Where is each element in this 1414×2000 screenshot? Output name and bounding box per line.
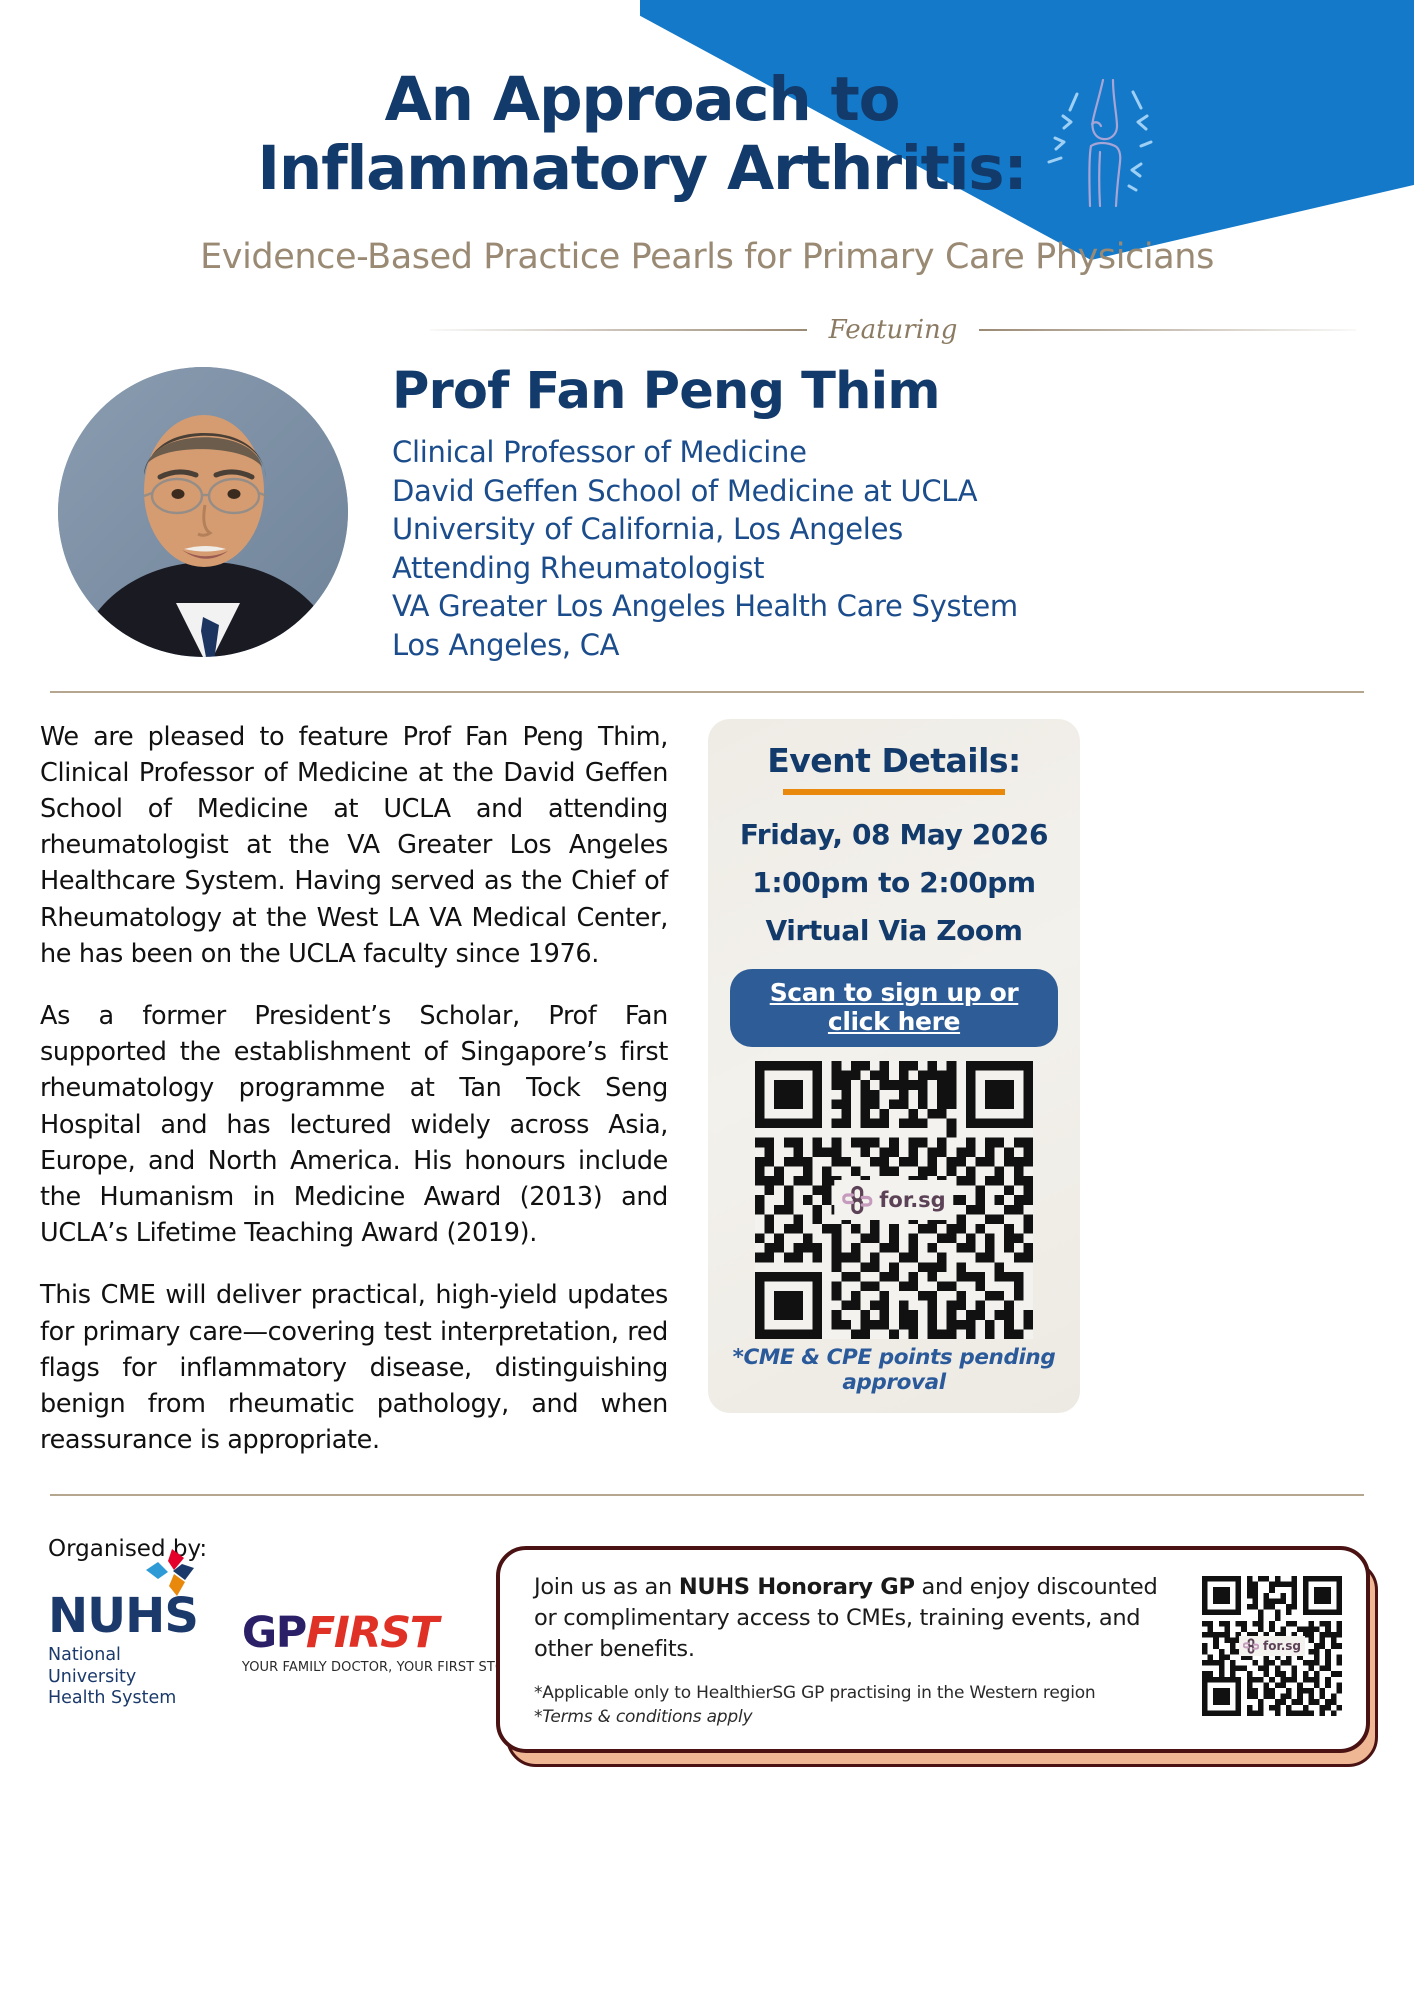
forsg-logo-overlay: for.sg (834, 1180, 953, 1220)
honorary-gp-text: Join us as an NUHS Honorary GP and enjoy… (534, 1572, 1186, 1729)
gpfirst-logo: GPFIRST YOUR FAMILY DOCTOR, YOUR FIRST S… (242, 1592, 513, 1675)
credential-line: Los Angeles, CA (392, 626, 1018, 665)
honorary-gp-callout: Join us as an NUHS Honorary GP and enjoy… (496, 1546, 1370, 1753)
credential-line: David Geffen School of Medicine at UCLA (392, 472, 1018, 511)
description-paragraph: As a former President’s Scholar, Prof Fa… (40, 998, 668, 1251)
page-footer: Organised by: NUHS National University H… (0, 1496, 1414, 1753)
page-subtitle: Evidence-Based Practice Pearls for Prima… (0, 237, 1414, 277)
forsg-label: for.sg (879, 1188, 945, 1212)
gpfirst-wordmark: GPFIRST (242, 1612, 513, 1655)
page-title: An Approach to Inflammatory Arthritis: (257, 66, 1026, 203)
gpfirst-tagline: YOUR FAMILY DOCTOR, YOUR FIRST STOP (242, 1660, 513, 1675)
nuhs-wordmark: NUHS (48, 1592, 198, 1640)
organised-by-label: Organised by: (48, 1536, 468, 1562)
chain-link-icon (842, 1185, 872, 1215)
cme-pending-note: *CME & CPE points pending approval (724, 1345, 1064, 1395)
chain-link-icon (1243, 1638, 1259, 1654)
event-details-title: Event Details: (724, 741, 1064, 780)
knee-joint-icon (1037, 76, 1157, 211)
signup-button[interactable]: Scan to sign up or click here (730, 969, 1058, 1047)
fineprint-line-2: *Terms & conditions apply (534, 1706, 1186, 1729)
nuhs-subtitle: National University Health System (48, 1645, 198, 1709)
featuring-line-right (979, 329, 1356, 331)
nuhs-pinwheel-icon (144, 1548, 196, 1598)
event-title-underline (783, 789, 1005, 795)
credential-line: University of California, Los Angeles (392, 510, 1018, 549)
nuhs-subtitle-line-1: National University (48, 1645, 198, 1688)
nuhs-subtitle-line-2: Health System (48, 1688, 198, 1709)
featuring-divider: Featuring (430, 315, 1356, 345)
event-date: Friday, 08 May 2026 (724, 811, 1064, 859)
nuhs-logo: NUHS National University Health System (48, 1592, 198, 1709)
gpfirst-gp-text: GP (242, 1608, 306, 1658)
gpfirst-first-text: FIRST (306, 1608, 438, 1658)
event-details-card: Event Details: Friday, 08 May 2026 1:00p… (708, 719, 1080, 1413)
fineprint-line-1: *Applicable only to HealthierSG GP pract… (534, 1682, 1186, 1705)
speaker-credentials: Clinical Professor of Medicine David Gef… (392, 433, 1018, 664)
description-column: We are pleased to feature Prof Fan Peng … (40, 719, 668, 1459)
title-row: An Approach to Inflammatory Arthritis: (0, 58, 1414, 211)
event-time: 1:00pm to 2:00pm (724, 859, 1064, 907)
event-mode: Virtual Via Zoom (724, 907, 1064, 955)
speaker-avatar (58, 367, 348, 657)
signup-qr-code[interactable]: for.sg (755, 1061, 1033, 1339)
speaker-name: Prof Fan Peng Thim (392, 363, 1018, 421)
title-line-2: Inflammatory Arthritis: (257, 135, 1026, 203)
honorary-gp-fineprint: *Applicable only to HealthierSG GP pract… (534, 1682, 1186, 1729)
description-paragraph: This CME will deliver practical, high-yi… (40, 1277, 668, 1458)
description-paragraph: We are pleased to feature Prof Fan Peng … (40, 719, 668, 972)
honorary-text-bold: NUHS Honorary GP (679, 1574, 915, 1600)
honorary-gp-message: Join us as an NUHS Honorary GP and enjoy… (534, 1572, 1186, 1664)
honorary-gp-qr-code[interactable]: for.sg (1202, 1576, 1342, 1716)
title-line-1: An Approach to (257, 66, 1026, 134)
featuring-label: Featuring (829, 315, 958, 345)
main-content: We are pleased to feature Prof Fan Peng … (0, 693, 1414, 1459)
honorary-text-before: Join us as an (534, 1574, 679, 1600)
forsg-logo-overlay-small: for.sg (1239, 1636, 1305, 1656)
speaker-block: Prof Fan Peng Thim Clinical Professor of… (0, 361, 1414, 665)
featuring-line-left (430, 329, 807, 331)
credential-line: VA Greater Los Angeles Health Care Syste… (392, 587, 1018, 626)
page-header: An Approach to Inflammatory Arthritis: (0, 0, 1414, 277)
forsg-label-small: for.sg (1263, 1639, 1301, 1653)
organiser-logos: NUHS National University Health System G… (48, 1592, 468, 1709)
speaker-info: Prof Fan Peng Thim Clinical Professor of… (392, 361, 1018, 665)
credential-line: Attending Rheumatologist (392, 549, 1018, 588)
organised-by-block: Organised by: NUHS National University H… (48, 1530, 468, 1709)
credential-line: Clinical Professor of Medicine (392, 433, 1018, 472)
honorary-gp-box[interactable]: Join us as an NUHS Honorary GP and enjoy… (496, 1546, 1370, 1753)
